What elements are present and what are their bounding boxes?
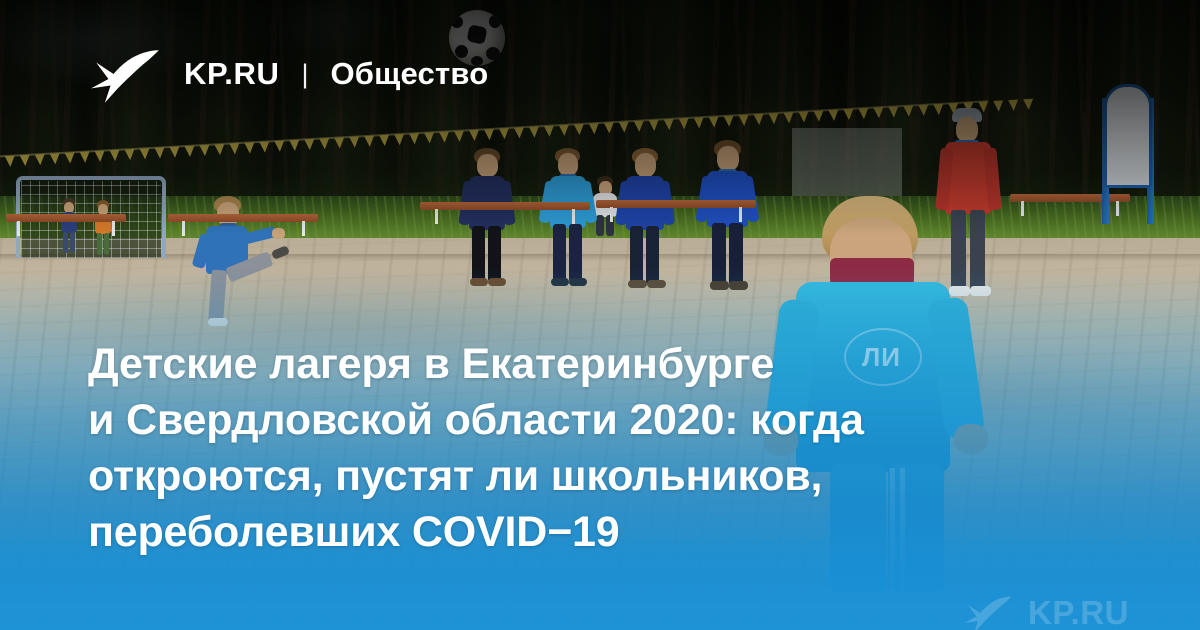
headline-line-2: и Свердловской области 2020: когда — [88, 392, 1088, 448]
wooden-bench — [596, 200, 756, 222]
headline-line-3: откроются, пустят ли школьников, — [88, 448, 1088, 504]
rubric-label[interactable]: Общество — [330, 56, 488, 92]
wooden-bench — [6, 214, 126, 236]
headline-line-4: переболевших COVID−19 — [88, 504, 1088, 560]
social-share-card: ЛИ KP.RU | Общество Детские лагеря в Ека… — [0, 0, 1200, 630]
wooden-bench — [420, 202, 590, 224]
kp-swallow-bird-icon[interactable] — [88, 38, 162, 110]
brand-name[interactable]: KP.RU — [184, 56, 279, 92]
blue-information-board — [1098, 84, 1158, 224]
board-panel — [1104, 84, 1152, 188]
page-title: Детские лагеря в Екатеринбурге и Свердло… — [88, 336, 1088, 560]
distant-building — [792, 128, 902, 196]
headline-line-1: Детские лагеря в Екатеринбурге — [88, 336, 1088, 392]
header-divider: | — [301, 59, 308, 90]
site-header: KP.RU | Общество — [88, 38, 488, 110]
wooden-bench — [168, 214, 318, 236]
